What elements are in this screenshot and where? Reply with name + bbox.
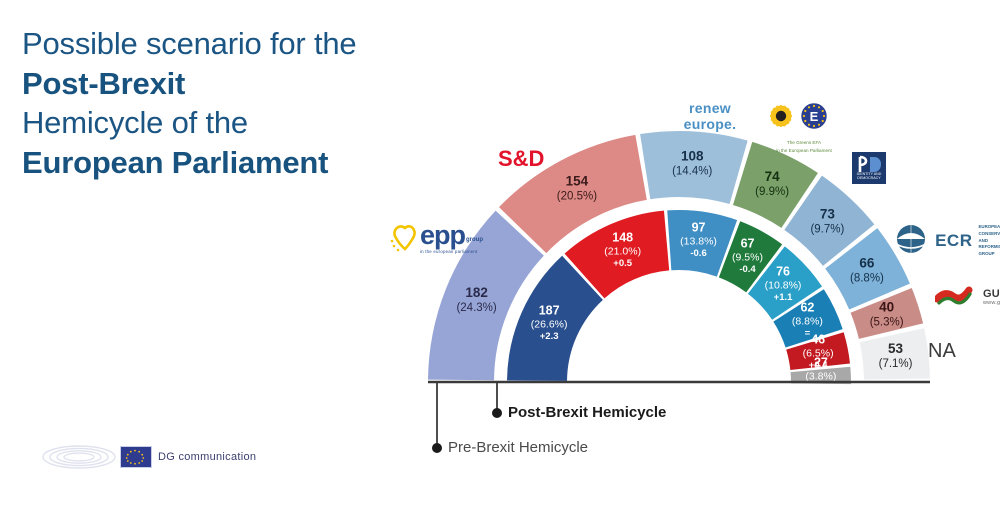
gue-ngl-logo: GUE/NGL www.guengl.eu [935, 285, 1000, 309]
dg-communication-logo: DG communication [40, 440, 256, 474]
renew-europe-logo: renew europe. [655, 100, 765, 132]
eu-flag-icon [120, 446, 152, 468]
leader-dot-pre [432, 443, 442, 453]
ecr-sub-4: GROUP [979, 251, 1000, 258]
ecr-sub-1: EUROPEAN [979, 224, 1000, 231]
renew-line-2: europe. [655, 116, 765, 132]
infographic-canvas: Possible scenario for the Post-Brexit He… [0, 0, 1000, 523]
legend-post-brexit: Post-Brexit Hemicycle [508, 404, 666, 421]
ecr-logo: ECR EUROPEAN CONSERVATIVES AND REFORMIST… [890, 222, 1000, 260]
eu-stars-icon [121, 447, 149, 465]
greens-subtitle-2: in the European Parliament [762, 148, 846, 155]
epp-tagline: in the european parliament [420, 249, 483, 254]
epp-heart-icon [390, 222, 420, 256]
dg-communication-text: DG communication [158, 451, 256, 463]
gue-wordmark: GUE/NGL [983, 288, 1000, 300]
ecr-sub-3: AND REFORMISTS [979, 238, 1000, 251]
sd-logo: S&D [498, 146, 544, 172]
svg-text:E: E [810, 109, 819, 124]
id-mark-icon [852, 152, 886, 184]
greens-subtitle-1: The Greens EFA [762, 140, 846, 147]
renew-line-1: renew [655, 100, 765, 116]
epp-logo: epp group in the european parliament [390, 222, 483, 256]
epp-wordmark: epp [420, 224, 465, 247]
gue-url: www.guengl.eu [983, 300, 1000, 306]
ep-hemicycle-icon [40, 440, 118, 474]
ecr-wordmark: ECR [935, 231, 972, 251]
sunflower-stars-icon: E [762, 100, 846, 134]
ecr-globe-icon [890, 222, 931, 260]
id-group-logo: IDENTITY AND DEMOCRACY [852, 152, 886, 184]
epp-group-text: group [466, 237, 483, 243]
leader-dot-post [492, 408, 502, 418]
greens-efa-logo: E The Greens EFA in the European Parliam… [762, 100, 846, 155]
legend-pre-brexit: Pre-Brexit Hemicycle [448, 439, 588, 456]
gue-swoosh-icon [935, 285, 977, 309]
na-label: NA [928, 340, 956, 363]
ecr-sub-2: CONSERVATIVES [979, 231, 1000, 238]
